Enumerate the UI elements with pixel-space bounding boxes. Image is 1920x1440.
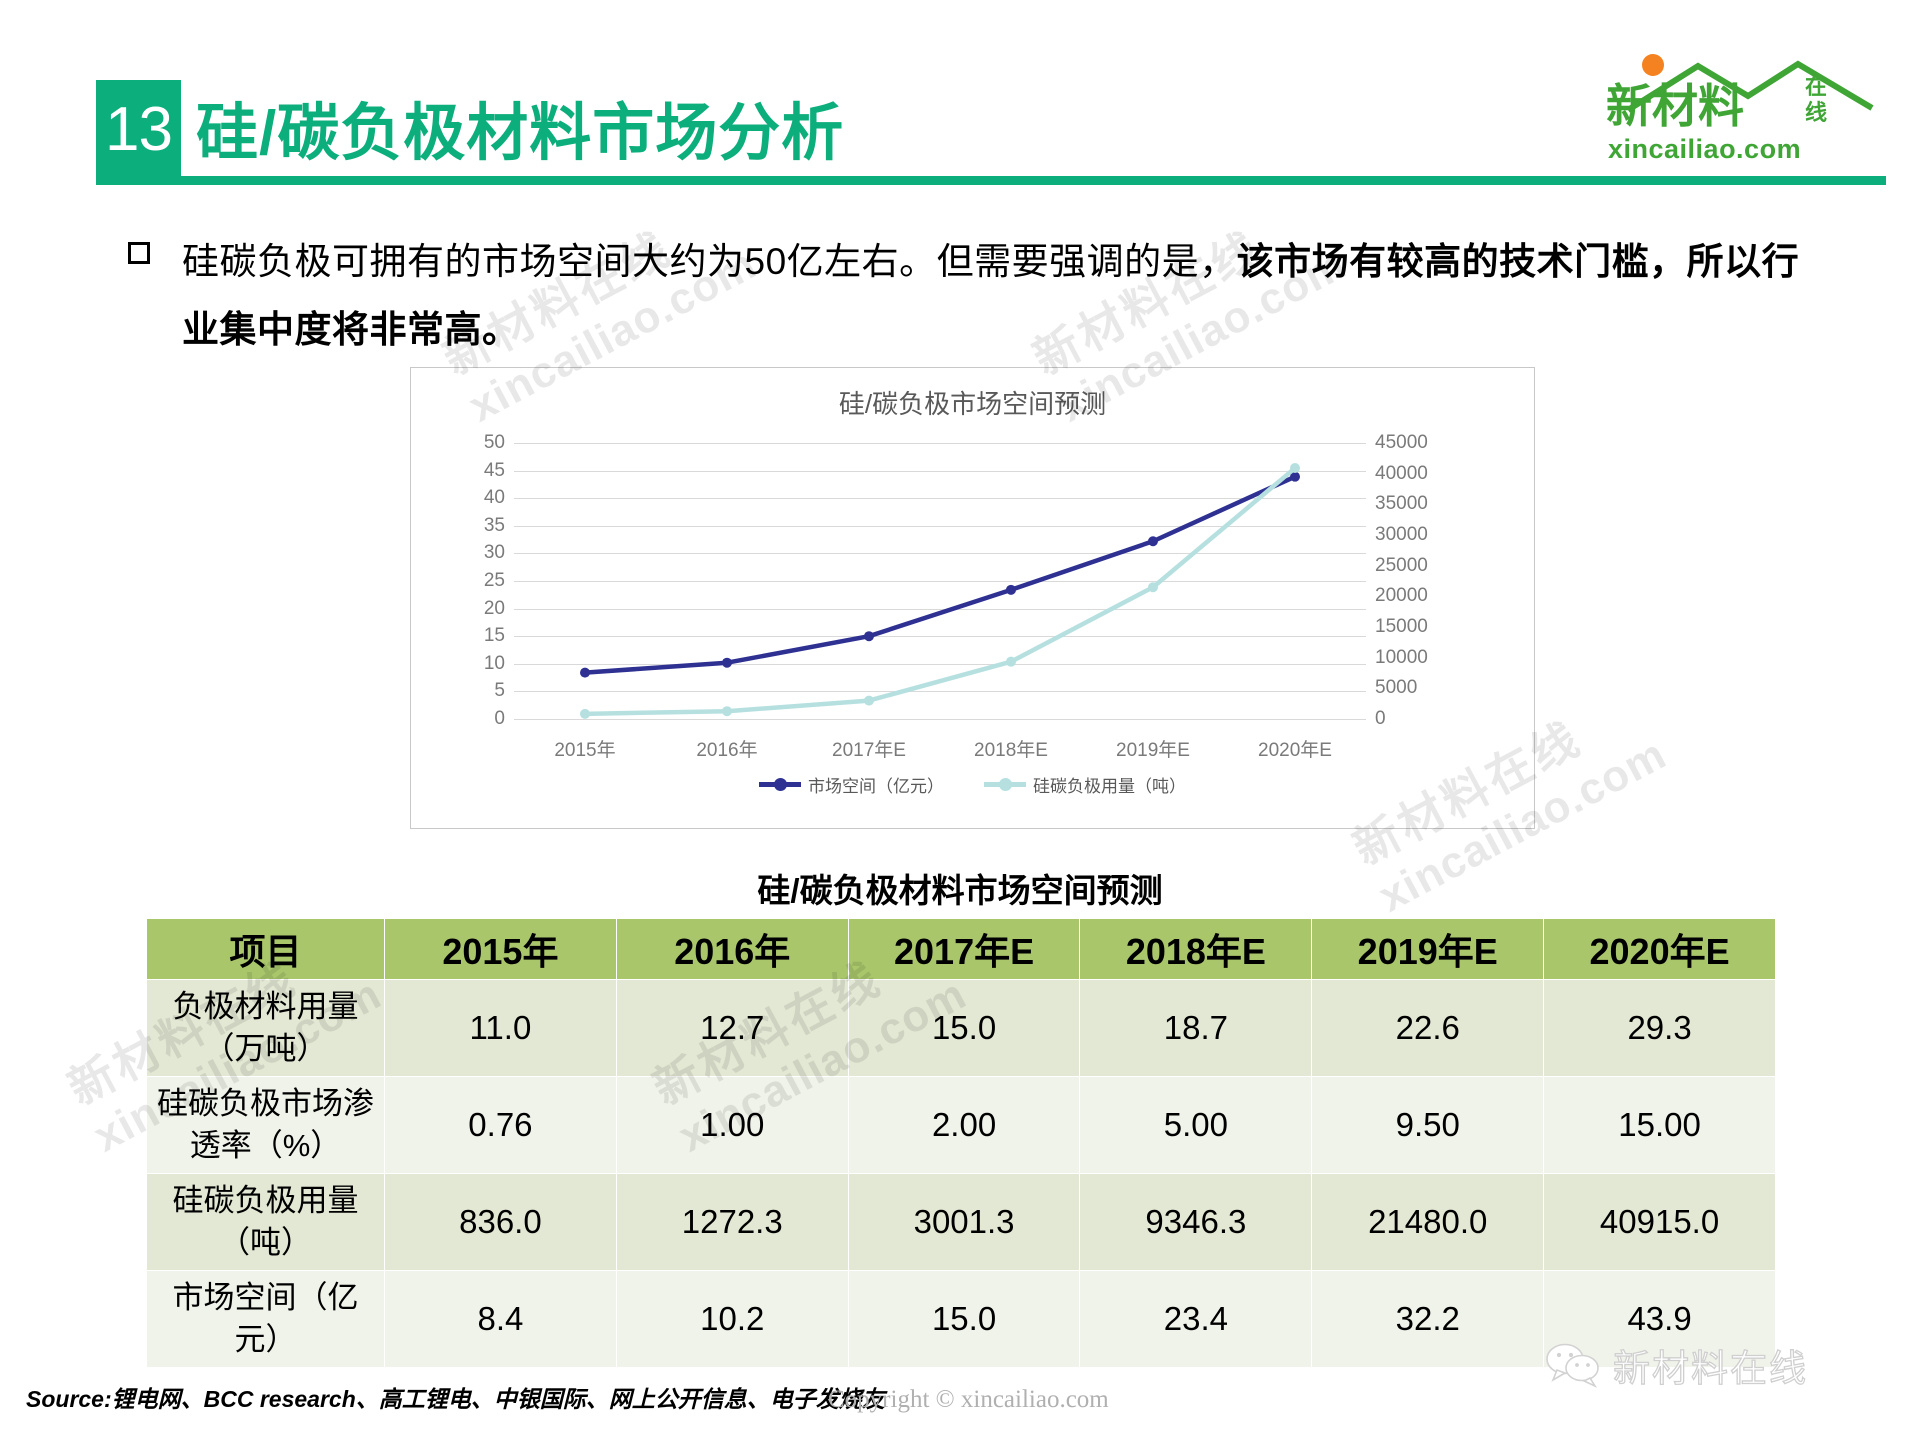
table-cell: 15.0 bbox=[848, 980, 1080, 1077]
table-cell: 5.00 bbox=[1080, 1077, 1312, 1174]
chart-y-tick-right: 10000 bbox=[1375, 647, 1465, 669]
table-row: 硅碳负极用量（吨）836.01272.33001.39346.321480.04… bbox=[147, 1174, 1776, 1271]
table-header: 项目2015年2016年2017年E2018年E2019年E2020年E bbox=[147, 919, 1776, 980]
chart-legend-label: 市场空间（亿元） bbox=[808, 772, 944, 797]
page-title: 硅/碳负极材料市场分析 bbox=[196, 82, 844, 172]
table-column-header: 2015年 bbox=[385, 919, 617, 980]
xincailiao-logo: 新材料 在线 xincailiao.com bbox=[1598, 38, 1888, 168]
chart-y-tick-left: 45 bbox=[445, 460, 505, 482]
chart-x-tick: 2015年 bbox=[510, 735, 660, 762]
table-header-row: 项目2015年2016年2017年E2018年E2019年E2020年E bbox=[147, 919, 1776, 980]
chart-series-svg bbox=[514, 443, 1366, 719]
table-cell: 32.2 bbox=[1312, 1271, 1544, 1368]
logo-sub-text: 在线 bbox=[1796, 74, 1836, 126]
table-cell: 22.6 bbox=[1312, 980, 1544, 1077]
table-cell: 1.00 bbox=[616, 1077, 848, 1174]
table-cell: 18.7 bbox=[1080, 980, 1312, 1077]
chart-data-point bbox=[864, 631, 874, 641]
chart-legend-swatch bbox=[759, 782, 801, 787]
table-body: 负极材料用量（万吨）11.012.715.018.722.629.3硅碳负极市场… bbox=[147, 980, 1776, 1368]
chart-data-point bbox=[580, 709, 590, 719]
chart-y-tick-left: 0 bbox=[445, 708, 505, 730]
chart-data-point bbox=[1290, 463, 1300, 473]
chart-y-tick-left: 25 bbox=[445, 570, 505, 592]
chart-x-tick: 2019年E bbox=[1078, 735, 1228, 762]
table-cell: 12.7 bbox=[616, 980, 848, 1077]
table-cell: 40915.0 bbox=[1544, 1174, 1776, 1271]
table-cell: 23.4 bbox=[1080, 1271, 1312, 1368]
chart-data-point bbox=[1148, 536, 1158, 546]
chart-y-tick-left: 50 bbox=[445, 432, 505, 454]
header-divider bbox=[96, 176, 1886, 185]
chart-legend-label: 硅碳负极用量（吨） bbox=[1033, 772, 1186, 797]
table-cell: 11.0 bbox=[385, 980, 617, 1077]
chart-y-tick-right: 15000 bbox=[1375, 616, 1465, 638]
chart-data-point bbox=[580, 668, 590, 678]
chart-series-line bbox=[585, 468, 1295, 714]
table-cell: 836.0 bbox=[385, 1174, 617, 1271]
chart-y-tick-right: 45000 bbox=[1375, 432, 1465, 454]
chart-data-point bbox=[722, 658, 732, 668]
logo-domain-text: xincailiao.com bbox=[1608, 134, 1801, 165]
chart-y-tick-right: 0 bbox=[1375, 708, 1465, 730]
table-title: 硅/碳负极材料市场空间预测 bbox=[0, 864, 1920, 912]
slide-number-badge: 13 bbox=[96, 80, 181, 180]
copyright-note: Copyright © xincailiao.com bbox=[828, 1386, 1109, 1414]
chart-y-tick-left: 20 bbox=[445, 598, 505, 620]
table-row-label: 市场空间（亿元） bbox=[147, 1271, 385, 1368]
table-cell: 9.50 bbox=[1312, 1077, 1544, 1174]
slide-header: 13 硅/碳负极材料市场分析 新材料 在线 xincailiao.com bbox=[0, 0, 1920, 195]
table-cell: 9346.3 bbox=[1080, 1174, 1312, 1271]
chart-y-tick-right: 30000 bbox=[1375, 524, 1465, 546]
sun-dot-icon bbox=[1642, 54, 1664, 76]
logo-main-text: 新材料 bbox=[1606, 80, 1744, 132]
chart-legend-item[interactable]: 硅碳负极用量（吨） bbox=[984, 772, 1186, 797]
chart-title: 硅/碳负极市场空间预测 bbox=[411, 384, 1534, 421]
chart-y-tick-left: 10 bbox=[445, 653, 505, 675]
chart-plot-area: 05101520253035404550 0500010000150002000… bbox=[514, 443, 1366, 719]
chart-container: 硅/碳负极市场空间预测 05101520253035404550 0500010… bbox=[410, 367, 1535, 829]
table-row-label: 硅碳负极用量（吨） bbox=[147, 1174, 385, 1271]
chart-series-line bbox=[585, 477, 1295, 673]
chart-x-tick: 2020年E bbox=[1220, 735, 1370, 762]
table-cell: 1272.3 bbox=[616, 1174, 848, 1271]
chart-y-tick-right: 40000 bbox=[1375, 463, 1465, 485]
chart-x-tick: 2017年E bbox=[794, 735, 944, 762]
table-column-header: 2018年E bbox=[1080, 919, 1312, 980]
source-note: Source:锂电网、BCC research、高工锂电、中银国际、网上公开信息… bbox=[26, 1380, 885, 1414]
wechat-icon bbox=[1545, 1342, 1603, 1388]
chart-y-tick-left: 15 bbox=[445, 625, 505, 647]
table-row: 市场空间（亿元）8.410.215.023.432.243.9 bbox=[147, 1271, 1776, 1368]
chart-y-tick-left: 5 bbox=[445, 680, 505, 702]
chart-legend: 市场空间（亿元）硅碳负极用量（吨） bbox=[411, 772, 1534, 797]
table-row-label: 负极材料用量（万吨） bbox=[147, 980, 385, 1077]
market-forecast-table: 项目2015年2016年2017年E2018年E2019年E2020年E 负极材… bbox=[146, 918, 1776, 1368]
chart-y-tick-right: 25000 bbox=[1375, 555, 1465, 577]
chart-y-tick-right: 5000 bbox=[1375, 677, 1465, 699]
chart-gridline bbox=[514, 719, 1366, 720]
table-cell: 21480.0 bbox=[1312, 1174, 1544, 1271]
chart-data-point bbox=[722, 706, 732, 716]
table-column-header: 2020年E bbox=[1544, 919, 1776, 980]
table-cell: 15.00 bbox=[1544, 1077, 1776, 1174]
chart-y-tick-right: 20000 bbox=[1375, 585, 1465, 607]
chart-y-tick-left: 30 bbox=[445, 542, 505, 564]
chart-y-tick-right: 35000 bbox=[1375, 493, 1465, 515]
chart-data-point bbox=[864, 696, 874, 706]
chart-data-point bbox=[1148, 582, 1158, 592]
wechat-label: 新材料在线 bbox=[1613, 1338, 1808, 1392]
chart-data-point bbox=[1006, 657, 1016, 667]
table-row: 硅碳负极市场渗透率（%）0.761.002.005.009.5015.00 bbox=[147, 1077, 1776, 1174]
chart-y-tick-left: 35 bbox=[445, 515, 505, 537]
table-column-header: 2016年 bbox=[616, 919, 848, 980]
table-column-header: 2017年E bbox=[848, 919, 1080, 980]
bullet-text-plain: 硅碳负极可拥有的市场空间大约为50亿左右。但需要强调的是， bbox=[182, 241, 1237, 282]
chart-x-tick: 2018年E bbox=[936, 735, 1086, 762]
chart-y-tick-left: 40 bbox=[445, 487, 505, 509]
chart-legend-swatch bbox=[984, 782, 1026, 787]
chart-data-point bbox=[1006, 585, 1016, 595]
chart-legend-item[interactable]: 市场空间（亿元） bbox=[759, 772, 944, 797]
bullet-text: 硅碳负极可拥有的市场空间大约为50亿左右。但需要强调的是，该市场有较高的技术门槛… bbox=[182, 228, 1828, 364]
table-cell: 3001.3 bbox=[848, 1174, 1080, 1271]
wechat-badge: 新材料在线 bbox=[1545, 1338, 1808, 1392]
table-cell: 29.3 bbox=[1544, 980, 1776, 1077]
table-column-header: 项目 bbox=[147, 919, 385, 980]
table-cell: 8.4 bbox=[385, 1271, 617, 1368]
table-row-label: 硅碳负极市场渗透率（%） bbox=[147, 1077, 385, 1174]
bullet-square-icon bbox=[128, 242, 150, 264]
table-cell: 0.76 bbox=[385, 1077, 617, 1174]
table-cell: 15.0 bbox=[848, 1271, 1080, 1368]
bullet-paragraph: 硅碳负极可拥有的市场空间大约为50亿左右。但需要强调的是，该市场有较高的技术门槛… bbox=[128, 228, 1828, 364]
table-cell: 2.00 bbox=[848, 1077, 1080, 1174]
table-column-header: 2019年E bbox=[1312, 919, 1544, 980]
chart-x-tick: 2016年 bbox=[652, 735, 802, 762]
table-cell: 10.2 bbox=[616, 1271, 848, 1368]
table-row: 负极材料用量（万吨）11.012.715.018.722.629.3 bbox=[147, 980, 1776, 1077]
